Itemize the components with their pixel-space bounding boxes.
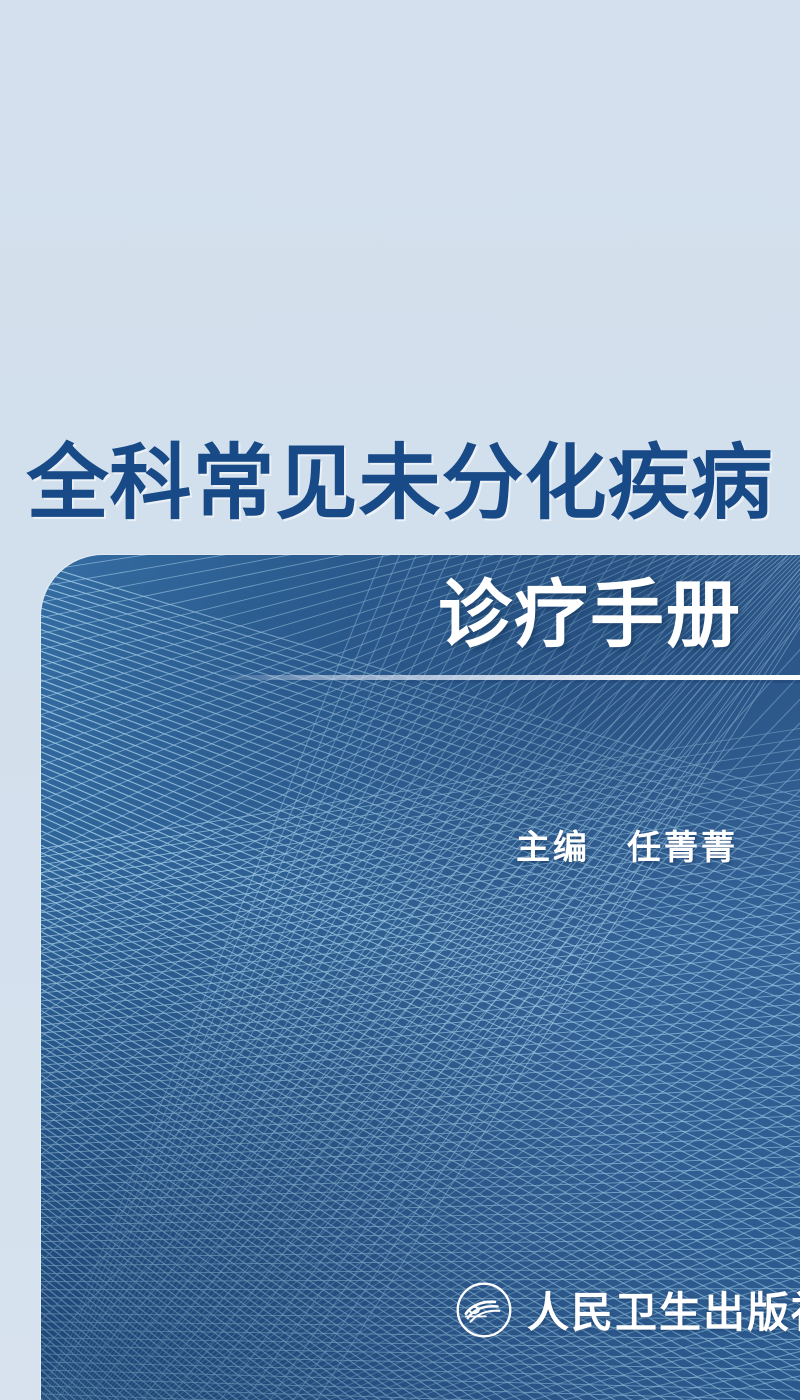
page-title: 全科常见未分化疾病	[0, 443, 800, 525]
title-divider-shadow	[215, 680, 800, 683]
editor-credit: 主编 任菁菁	[516, 820, 738, 869]
title-divider	[215, 675, 800, 680]
publisher-block: 人民卫生出版社	[455, 1279, 800, 1340]
pmph-circle-logo-icon	[455, 1281, 513, 1339]
book-cover: 全科常见未分化疾病 诊疗手册 主编 任菁菁 人民卫生出版社	[0, 0, 800, 1400]
page-subtitle: 诊疗手册	[438, 578, 742, 652]
publisher-name: 人民卫生出版社	[527, 1279, 800, 1340]
